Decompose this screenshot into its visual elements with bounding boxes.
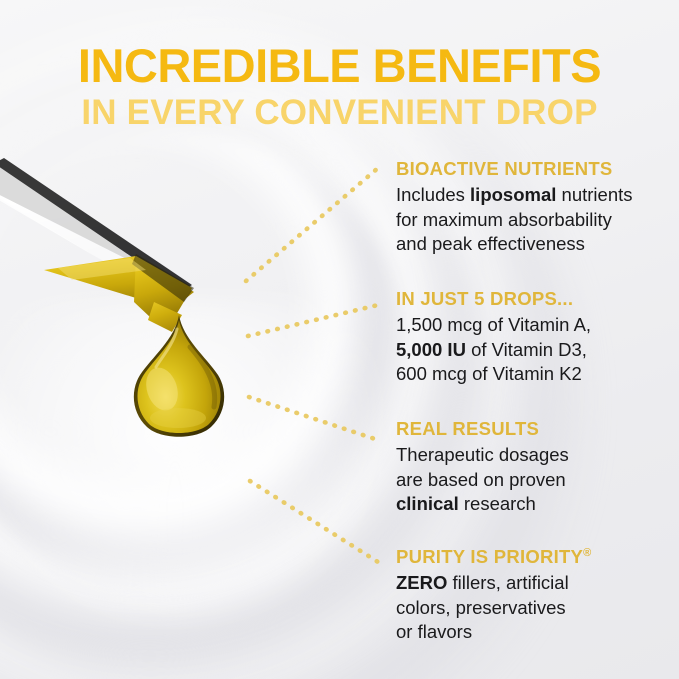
registered-trademark-symbol: ® — [583, 547, 591, 559]
body-text: Therapeutic dosages — [396, 444, 569, 465]
body-text: nutrients — [556, 184, 632, 205]
body-text: fillers, artificial — [447, 572, 568, 593]
feature-title-in-just-5-drops: IN JUST 5 DROPS... — [396, 288, 671, 309]
body-text: or flavors — [396, 621, 472, 642]
headline-primary: INCREDIBLE BENEFITS — [0, 42, 679, 89]
body-text: Includes — [396, 184, 470, 205]
body-text: colors, preservatives — [396, 597, 566, 618]
body-text: 600 mcg of Vitamin K2 — [396, 363, 582, 384]
emphasis-text: ZERO — [396, 572, 447, 593]
feature-title-real-results: REAL RESULTS — [396, 418, 671, 439]
body-text: of Vitamin D3, — [466, 339, 587, 360]
headline-block: INCREDIBLE BENEFITS IN EVERY CONVENIENT … — [0, 42, 679, 130]
feature-block-real-results: REAL RESULTS Therapeutic dosagesare base… — [396, 418, 671, 516]
emphasis-text: 5,000 IU — [396, 339, 466, 360]
feature-block-in-just-5-drops: IN JUST 5 DROPS... 1,500 mcg of Vitamin … — [396, 288, 671, 386]
body-text: are based on proven — [396, 469, 566, 490]
feature-block-bioactive-nutrients: BIOACTIVE NUTRIENTS Includes liposomal n… — [396, 158, 671, 256]
feature-body-in-just-5-drops: 1,500 mcg of Vitamin A,5,000 IU of Vitam… — [396, 313, 671, 386]
feature-body-real-results: Therapeutic dosagesare based on provencl… — [396, 443, 671, 516]
product-benefits-infographic: INCREDIBLE BENEFITS IN EVERY CONVENIENT … — [0, 0, 679, 679]
feature-title-bioactive-nutrients: BIOACTIVE NUTRIENTS — [396, 158, 671, 179]
feature-title-purity-is-priority: PURITY IS PRIORITY® — [396, 546, 671, 567]
feature-block-purity-is-priority: PURITY IS PRIORITY® ZERO fillers, artifi… — [396, 546, 671, 644]
emphasis-text: liposomal — [470, 184, 556, 205]
feature-body-bioactive-nutrients: Includes liposomal nutrientsfor maximum … — [396, 183, 671, 256]
emphasis-text: clinical — [396, 493, 459, 514]
body-text: and peak effectiveness — [396, 233, 585, 254]
feature-body-purity-is-priority: ZERO fillers, artificialcolors, preserva… — [396, 571, 671, 644]
body-text: research — [459, 493, 536, 514]
body-text: 1,500 mcg of Vitamin A, — [396, 314, 591, 335]
body-text: for maximum absorbability — [396, 209, 612, 230]
headline-secondary: IN EVERY CONVENIENT DROP — [0, 95, 679, 130]
